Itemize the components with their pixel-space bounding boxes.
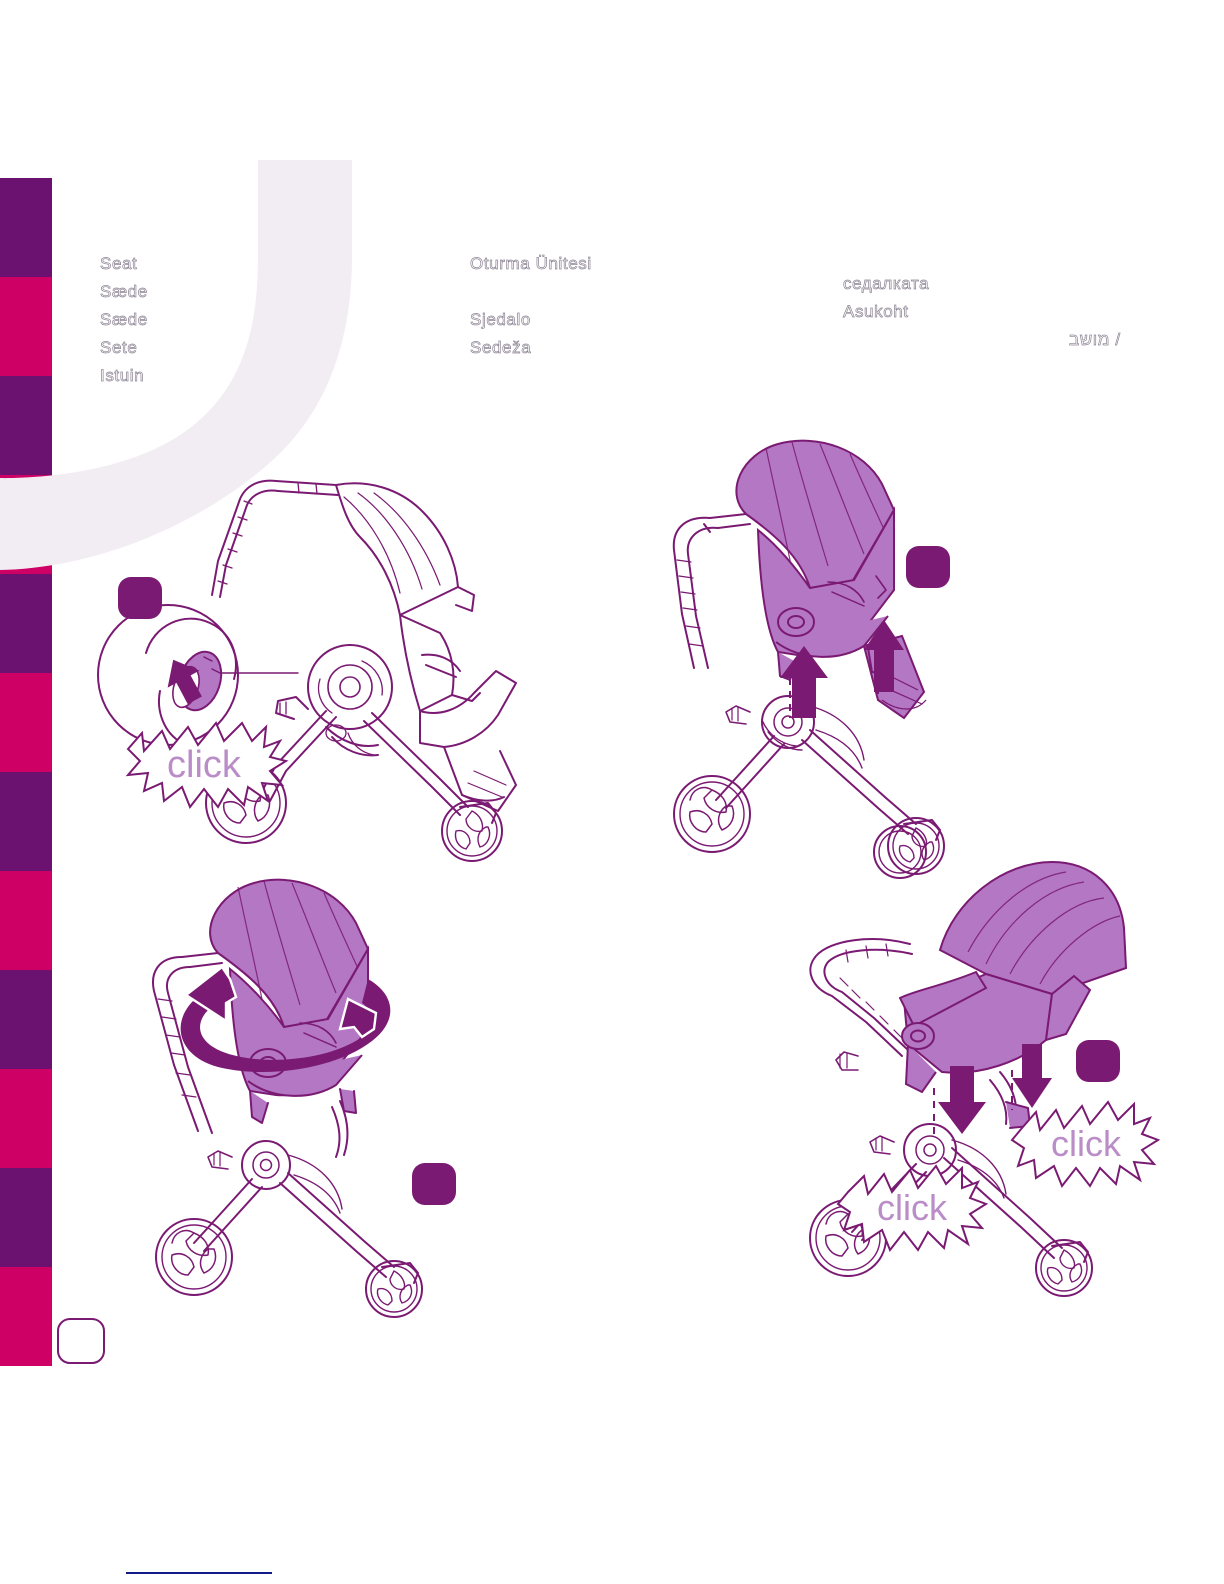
seat-attach-outline-figure: click <box>100 465 580 865</box>
lang-label-sete: Sete <box>100 334 148 362</box>
step-marker <box>1076 1040 1120 1082</box>
lang-label-asukoht: Asukoht <box>843 298 929 326</box>
click-label: click <box>167 744 242 786</box>
color-bar-stripe-10 <box>0 1168 52 1267</box>
lang-label-sedalkata: седалката <box>843 270 929 298</box>
click-callout: click <box>128 723 286 807</box>
step-marker <box>906 546 950 588</box>
language-column-bulgarian-estonian: седалката Asukoht <box>843 270 929 326</box>
color-bar-stripe-6 <box>0 772 52 871</box>
step-marker <box>118 577 162 619</box>
color-bar-stripe-8 <box>0 970 52 1069</box>
lang-label-sedeza: Sedeža <box>470 334 592 362</box>
click-callout: click <box>838 1166 986 1250</box>
down-arrow-icon <box>938 1066 986 1134</box>
color-bar-stripe-11 <box>0 1267 52 1366</box>
lang-label-seat: Seat <box>100 250 148 278</box>
click-callout: click <box>1012 1102 1158 1186</box>
lang-label-saede2: Sæde <box>100 306 148 334</box>
click-label: click <box>1051 1123 1122 1164</box>
lang-label-saede1: Sæde <box>100 278 148 306</box>
language-column-english-nordic: Seat Sæde Sæde Sete Istuin <box>100 250 148 390</box>
page-number-placeholder <box>57 1318 105 1364</box>
click-label: click <box>877 1187 948 1228</box>
color-bar-stripe-7 <box>0 871 52 970</box>
lang-label-sjedalo: Sjedalo <box>470 306 592 334</box>
color-bar-stripe-5 <box>0 673 52 772</box>
footer-rule <box>126 1572 272 1574</box>
lang-label-oturma-unitesi: Oturma Ünitesi <box>470 250 592 278</box>
step-marker <box>412 1163 456 1205</box>
seat-rotate-figure <box>140 845 490 1335</box>
color-bar-stripe-4 <box>0 574 52 673</box>
color-bar-stripe-9 <box>0 1069 52 1168</box>
lang-label-hebrew-moshav: מושב / <box>1069 326 1121 354</box>
language-column-hebrew: מושב / <box>1069 326 1121 354</box>
language-column-turkish-balkan: Oturma Ünitesi Sjedalo Sedeža <box>470 250 592 362</box>
seat-seat-down-figure: click click <box>790 840 1160 1300</box>
seat-lift-figure <box>650 400 990 880</box>
lang-label-istuin: Istuin <box>100 362 148 390</box>
